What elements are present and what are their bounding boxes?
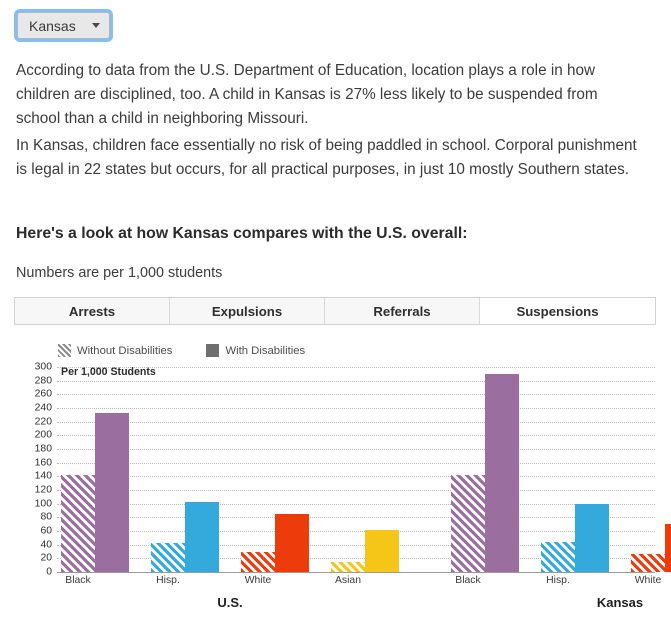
bar-us-hisp-without-disabilities (151, 543, 185, 572)
chart-plot-area: Per 1,000 Students 020406080100120140160… (57, 367, 655, 572)
gridline (57, 381, 655, 382)
y-axis-tick: 160 (35, 457, 52, 468)
state-select-value: Kansas (29, 18, 76, 34)
y-axis-tick: 280 (35, 375, 52, 386)
x-axis-group-label: U.S. (217, 595, 242, 610)
bar-us-black-with-disabilities (95, 413, 129, 572)
x-axis-group-label: Kansas (597, 595, 643, 610)
legend-label: Without Disabilities (77, 345, 172, 357)
state-select[interactable]: Kansas (17, 12, 110, 39)
article-paragraph-1: According to data from the U.S. Departme… (16, 59, 646, 131)
bar-kansas-white-without-disabilities (631, 554, 665, 572)
bar-us-asian-without-disabilities (331, 562, 365, 572)
y-axis-tick: 20 (40, 553, 52, 564)
legend-swatch-hatched (58, 344, 71, 357)
legend-item: With Disabilities (206, 344, 305, 357)
bar-kansas-black-without-disabilities (451, 475, 485, 572)
bar-us-hisp-with-disabilities (185, 502, 219, 572)
chevron-down-icon (92, 23, 100, 28)
y-axis-tick: 260 (35, 389, 52, 400)
x-axis-label: Black (65, 575, 90, 586)
gridline (57, 394, 655, 395)
bar-kansas-hisp-without-disabilities (541, 542, 575, 572)
y-axis-tick: 40 (40, 539, 52, 550)
bar-kansas-black-with-disabilities (485, 374, 519, 572)
tab-label: Referrals (373, 304, 430, 319)
tab-label: Suspensions (516, 304, 598, 319)
gridline (57, 463, 655, 464)
y-axis-tick: 180 (35, 444, 52, 455)
x-axis-label: Hisp. (156, 575, 180, 586)
gridline (57, 422, 655, 423)
y-axis-tick: 0 (46, 567, 52, 578)
state-selector-container: Kansas (17, 12, 110, 39)
tab-label: Expulsions (212, 304, 282, 319)
y-axis-tick: 120 (35, 485, 52, 496)
x-axis-label: White (635, 575, 662, 586)
y-axis-tick: 80 (40, 512, 52, 523)
gridline (57, 408, 655, 409)
bar-us-white-with-disabilities (275, 514, 309, 572)
y-axis-tick: 140 (35, 471, 52, 482)
y-axis-tick: 300 (35, 362, 52, 373)
legend-swatch-solid (206, 344, 219, 357)
y-axis-title: Per 1,000 Students (61, 366, 156, 378)
article-paragraph-2: In Kansas, children face essentially no … (16, 134, 646, 182)
gridline (57, 449, 655, 450)
gridline (57, 572, 655, 573)
chart-legend: Without DisabilitiesWith Disabilities (58, 344, 305, 357)
y-axis-tick: 60 (40, 526, 52, 537)
gridline (57, 490, 655, 491)
chart-container: Without DisabilitiesWith Disabilities Pe… (0, 336, 671, 636)
tab-expulsions[interactable]: Expulsions (170, 298, 325, 324)
x-axis-label: Black (455, 575, 480, 586)
y-axis-tick: 220 (35, 416, 52, 427)
comparison-heading: Here's a look at how Kansas compares wit… (16, 225, 467, 243)
gridline (57, 517, 655, 518)
x-axis-label: Hisp. (546, 575, 570, 586)
x-axis-label: White (245, 575, 272, 586)
gridline (57, 435, 655, 436)
tab-arrests[interactable]: Arrests (15, 298, 170, 324)
y-axis-tick: 200 (35, 430, 52, 441)
gridline (57, 476, 655, 477)
gridline (57, 504, 655, 505)
bar-us-black-without-disabilities (61, 475, 95, 572)
bar-us-white-without-disabilities (241, 552, 275, 573)
bar-us-asian-with-disabilities (365, 530, 399, 572)
discipline-tabs: ArrestsExpulsionsReferralsSuspensions (14, 297, 656, 325)
y-axis-tick: 240 (35, 403, 52, 414)
gridline (57, 531, 655, 532)
x-axis-label: Asian (335, 575, 361, 586)
legend-label: With Disabilities (225, 345, 305, 357)
bar-kansas-white-with-disabilities (665, 524, 671, 572)
legend-item: Without Disabilities (58, 344, 172, 357)
tab-label: Arrests (69, 304, 115, 319)
units-note: Numbers are per 1,000 students (16, 265, 222, 281)
tab-suspensions[interactable]: Suspensions (480, 298, 635, 324)
tab-referrals[interactable]: Referrals (325, 298, 480, 324)
y-axis-tick: 100 (35, 498, 52, 509)
bar-kansas-hisp-with-disabilities (575, 504, 609, 572)
